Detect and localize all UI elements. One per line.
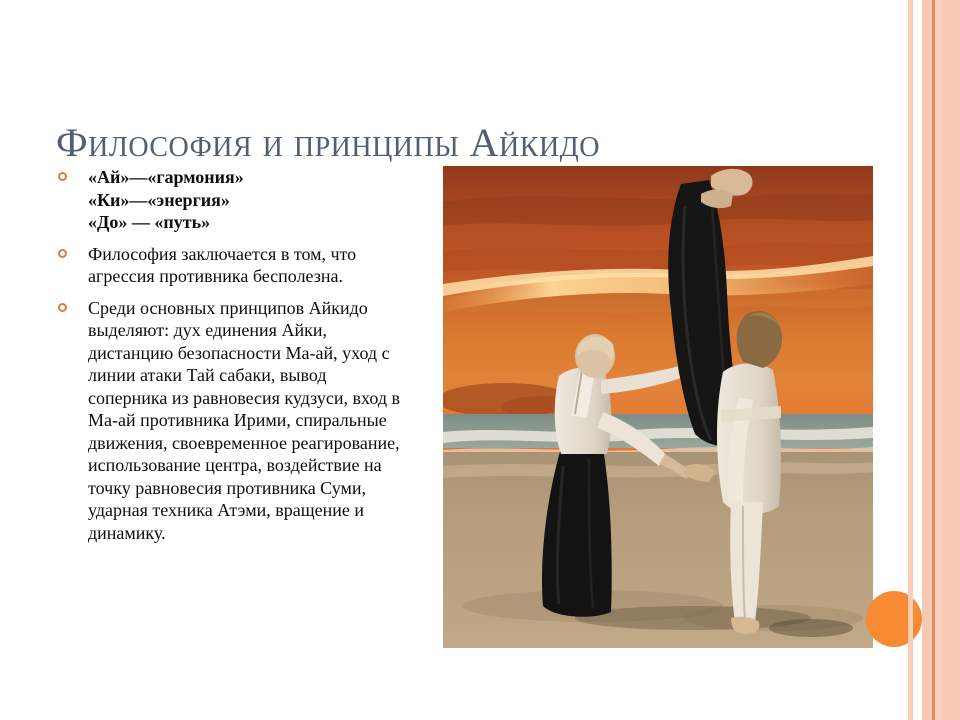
list-item[interactable]: Философия заключается в том, что агресси… [54, 243, 406, 288]
list-item-text: Среди основных принципов Айкидо выделяют… [88, 297, 406, 545]
bullet-circle-icon [58, 172, 67, 181]
stripe-band-c [942, 0, 960, 720]
bullet-list: «Ай»—«гармония» «Ки»—«энергия» «До» — «п… [54, 166, 406, 553]
stripe-band-a [922, 0, 932, 720]
aikido-photo-illustration [443, 166, 873, 648]
stripe-thin [908, 0, 913, 720]
aikido-photo [443, 166, 873, 648]
stripe-band-b [935, 0, 942, 720]
edge-stripe-decoration [900, 0, 960, 720]
bullet-circle-icon [58, 303, 67, 312]
bullet-circle-icon [58, 249, 67, 258]
list-item[interactable]: Среди основных принципов Айкидо выделяют… [54, 297, 406, 545]
slide: Философия и принципы Айкидо «Ай»—«гармон… [0, 0, 960, 720]
list-item[interactable]: «Ай»—«гармония» «Ки»—«энергия» «До» — «п… [54, 166, 406, 234]
list-item-text: «Ай»—«гармония» «Ки»—«энергия» «До» — «п… [88, 166, 406, 234]
list-item-text: Философия заключается в том, что агресси… [88, 243, 406, 288]
page-title: Философия и принципы Айкидо [56, 119, 836, 167]
